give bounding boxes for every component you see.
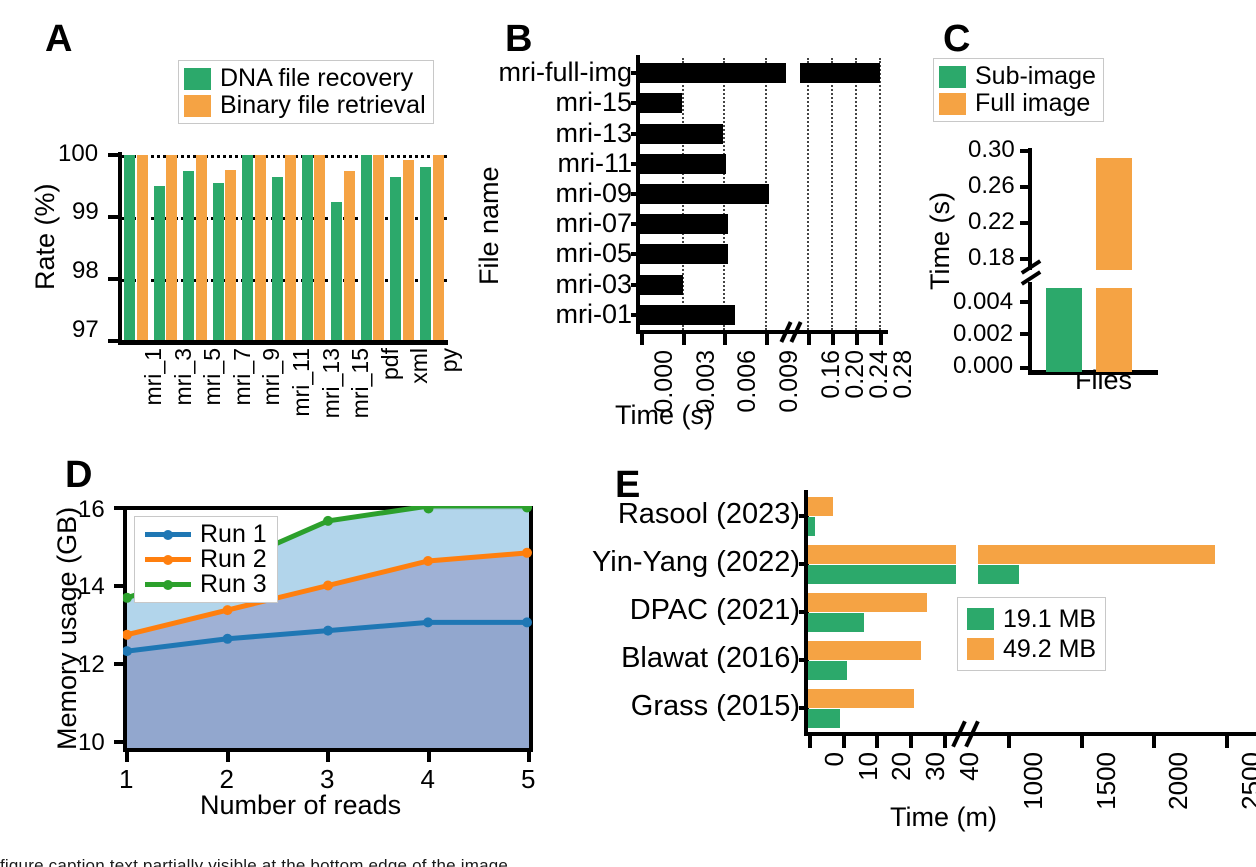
panel-c-ytickmark (1020, 149, 1029, 153)
figure-canvas: A DNA file recovery Binary file retrieva… (0, 0, 1256, 867)
panel-a-xtick: mri_3 (170, 348, 197, 406)
panel-e-bar (808, 661, 847, 680)
panel-d-xtickmark (427, 752, 431, 762)
panel-e-xtickmark (1080, 736, 1084, 748)
legend-swatch-orange (967, 638, 994, 660)
panel-c-ylabel: Time (s) (925, 192, 956, 290)
panel-c-bar-fullimage-upper (1096, 158, 1132, 270)
panel-c-ytickmark (1020, 221, 1029, 225)
panel-e-xtick: 20 (886, 752, 917, 781)
panel-b-xtickmark (640, 334, 644, 345)
legend-line-run2 (145, 557, 191, 562)
panel-e-legend: 19.1 MB 49.2 MB (957, 597, 1106, 671)
panel-c: C Sub-image Full image Time (s) Files 0.… (890, 0, 1256, 430)
panel-b-ytick: mri-15 (555, 87, 632, 118)
panel-b-bar (640, 275, 683, 295)
panel-a-xtick: pdf (377, 348, 404, 380)
panel-b-xtickmark (855, 334, 859, 345)
legend-swatch-green (967, 608, 994, 630)
panel-a-ytick: 99 (72, 198, 99, 226)
panel-c-ytick: 0.18 (968, 244, 1015, 272)
panel-a: A DNA file recovery Binary file retrieva… (0, 0, 460, 430)
panel-a-bar (285, 155, 296, 340)
panel-b-bar (640, 214, 728, 234)
panel-e-bar-right (978, 565, 1019, 584)
panel-e-xtick: 2000 (1163, 752, 1194, 810)
panel-e-xtickmark (909, 736, 913, 748)
panel-e-bar-left (808, 545, 956, 564)
panel-c-bar-subimage (1046, 288, 1082, 372)
panel-c-ytickmark (1020, 300, 1029, 304)
panel-a-ytick: 97 (72, 316, 99, 344)
legend-item: 19.1 MB (967, 604, 1096, 634)
figure-caption: figure caption text partially visible at… (0, 856, 1256, 867)
panel-e-xtick: 0 (819, 752, 850, 766)
panel-c-ytick: 0.004 (953, 288, 1013, 316)
panel-b-ytick: mri-03 (555, 269, 632, 300)
panel-a-bar (242, 155, 253, 340)
legend-label: 49.2 MB (1003, 635, 1096, 664)
panel-a-ytickmark (108, 277, 119, 281)
panel-a-xtick: mri_7 (229, 348, 256, 406)
panel-e-xtick: 10 (853, 752, 884, 781)
panel-b-gridline (807, 58, 809, 330)
legend-item: Run 1 (145, 522, 267, 547)
panel-b-bar (640, 244, 728, 264)
legend-item: 49.2 MB (967, 634, 1096, 664)
panel-a-xtick: mri_15 (347, 348, 374, 418)
panel-e-xtick: 1500 (1091, 752, 1122, 810)
panel-e-xtickmark (943, 736, 947, 748)
panel-a-xtick: mri_5 (199, 348, 226, 406)
panel-a-ytickmark (108, 339, 119, 343)
panel-e-xtick: 1000 (1018, 752, 1049, 810)
panel-e: E Time (m) Grass (2015)Blawat (2016)DPAC… (560, 440, 1256, 860)
panel-a-bar (331, 202, 342, 340)
panel-b-ytick: mri-full-img (499, 57, 632, 88)
panel-b-bar (640, 305, 735, 325)
panel-d-ytick: 14 (78, 573, 105, 601)
panel-d-xtickmark (226, 752, 230, 762)
panel-d-xtickmark (326, 752, 330, 762)
panel-e-bar (808, 497, 833, 516)
panel-e-bar (808, 641, 921, 660)
panel-e-bar (808, 517, 815, 536)
panel-e-xtickmark (1007, 736, 1011, 748)
panel-a-bar (361, 155, 372, 340)
panel-a-ytick: 98 (72, 257, 99, 285)
panel-a-ylabel: Rate (%) (30, 183, 61, 290)
panel-a-legend: DNA file recovery Binary file retrieval (178, 60, 434, 124)
panel-b-gridline (831, 58, 833, 330)
panel-e-bar-left (808, 565, 956, 584)
legend-label: Run 3 (200, 570, 267, 599)
legend-swatch-orange (184, 95, 211, 117)
panel-a-ytickmark (108, 153, 119, 157)
panel-c-ytick: 0.26 (968, 172, 1015, 200)
panel-c-ytick: 0.22 (968, 208, 1015, 236)
panel-c-yaxis-lower (1028, 282, 1032, 372)
panel-e-xtickmark (842, 736, 846, 748)
panel-b-label: B (505, 20, 532, 58)
panel-a-bar (302, 155, 313, 340)
panel-b-ylabel: File name (474, 166, 505, 285)
panel-b-xtickmark (765, 334, 769, 345)
panel-e-xtickmark (808, 736, 812, 748)
panel-d-ylabel: Memory usage (GB) (52, 507, 83, 750)
panel-e-bar (808, 689, 914, 708)
panel-c-ytick: 0.30 (968, 136, 1015, 164)
panel-a-xtick: mri_13 (318, 348, 345, 418)
panel-b-xtick: 0.003 (692, 350, 721, 413)
panel-d-xtick: 2 (220, 764, 234, 795)
panel-b-xtickmark (879, 334, 883, 345)
panel-d-legend: Run 1 Run 2 Run 3 (134, 516, 278, 603)
panel-b-xtick: 0.006 (733, 350, 762, 413)
panel-a-ytick: 100 (58, 140, 98, 168)
panel-e-xtickmark (1152, 736, 1156, 748)
panel-b-bar (640, 124, 723, 144)
legend-label: Binary file retrieval (220, 91, 426, 120)
panel-d-xtick: 3 (320, 764, 334, 795)
panel-e-xlabel: Time (m) (890, 802, 997, 833)
panel-d-xtick: 5 (521, 764, 535, 795)
panel-a-bar (390, 177, 401, 340)
panel-c-ytickmark (1020, 185, 1029, 189)
panel-b-ytick: mri-11 (557, 148, 632, 179)
panel-d-xtick: 1 (119, 764, 133, 795)
panel-b-xtick: 0.000 (650, 350, 679, 413)
panel-c-bar-fullimage-lower (1096, 288, 1132, 372)
panel-b-bar (640, 154, 726, 174)
legend-item: Full image (939, 90, 1096, 117)
panel-b-xtickmark (682, 334, 686, 345)
panel-d-xtick: 4 (421, 764, 435, 795)
panel-e-bar (808, 709, 840, 728)
panel-a-bar (344, 171, 355, 340)
legend-swatch-orange (939, 93, 966, 115)
legend-label: 19.1 MB (1003, 605, 1096, 634)
panel-e-bar (808, 613, 864, 632)
panel-b-ytick: mri-09 (555, 178, 632, 209)
panel-a-label: A (45, 20, 72, 58)
panel-a-bar (272, 177, 283, 340)
panel-e-xtick: 2500 (1236, 752, 1256, 810)
panel-a-bar (420, 167, 431, 340)
panel-d-xtickmark (125, 752, 129, 762)
legend-item: DNA file recovery (184, 65, 426, 92)
panel-a-bar (213, 183, 224, 340)
panel-a-bar (373, 155, 384, 340)
legend-label: Full image (975, 89, 1090, 118)
panel-b-bar-right (800, 63, 880, 83)
panel-b-bar-left (640, 63, 786, 83)
panel-e-xaxis (804, 732, 1256, 736)
panel-a-bar (137, 155, 148, 340)
panel-c-ytickmark (1020, 332, 1029, 336)
panel-a-bar (225, 170, 236, 340)
panel-a-xaxis (118, 340, 448, 345)
legend-item: Run 3 (145, 572, 267, 597)
panel-b-bar (640, 93, 682, 113)
panel-c-label: C (943, 20, 970, 58)
panel-d: D Memory usage (GB) Number of reads 16 1… (30, 440, 560, 860)
legend-item: Run 2 (145, 547, 267, 572)
legend-label: DNA file recovery (220, 64, 413, 93)
legend-item: Sub-image (939, 63, 1096, 90)
panel-b-ytick: mri-07 (555, 208, 632, 239)
panel-a-bar (124, 155, 135, 340)
panel-a-bar (196, 155, 207, 340)
panel-c-ytick: 0.002 (953, 320, 1013, 348)
panel-e-bar-right (978, 545, 1215, 564)
panel-e-bar (808, 593, 927, 612)
panel-a-bar (183, 171, 194, 340)
panel-e-xtickmark (875, 736, 879, 748)
panel-b-xtickmark (807, 334, 811, 345)
panel-b-xtickmark (723, 334, 727, 345)
panel-c-yaxis-upper (1028, 148, 1032, 270)
panel-a-bar (255, 155, 266, 340)
panel-a-xtick: mri_9 (258, 348, 285, 406)
legend-line-run3 (145, 582, 191, 587)
panel-c-ytickmark (1020, 257, 1029, 261)
panel-e-ytick: Grass (2015) (631, 690, 800, 723)
panel-d-ytick: 10 (78, 729, 105, 757)
panel-d-ytick: 16 (78, 496, 105, 524)
panel-a-yaxis (118, 152, 122, 344)
panel-b-bar (640, 184, 769, 204)
legend-swatch-green (939, 66, 966, 88)
panel-a-bar (154, 186, 165, 340)
panel-e-ytick: Yin-Yang (2022) (592, 546, 800, 579)
panel-a-bar (314, 155, 325, 340)
panel-b-xtickmark (831, 334, 835, 345)
panel-b-gridline (855, 58, 857, 330)
panel-b-ytick: mri-05 (555, 238, 632, 269)
caption-text: figure caption text partially visible at… (0, 856, 508, 867)
panel-a-bar (166, 155, 177, 340)
panel-a-xtick: mri_11 (288, 348, 315, 417)
panel-a-xtick: xml (406, 348, 433, 384)
panel-c-ytickmark (1020, 366, 1029, 370)
panel-b-ytick: mri-01 (555, 299, 632, 330)
panel-b-gridline (879, 58, 881, 330)
panel-d-label: D (65, 456, 92, 494)
panel-b-ytick: mri-13 (555, 118, 632, 149)
panel-d-xtickmark (527, 752, 531, 762)
panel-b-xaxis (636, 330, 888, 334)
panel-e-ytick: DPAC (2021) (630, 594, 800, 627)
legend-item: Binary file retrieval (184, 92, 426, 119)
panel-e-xtick: 40 (954, 752, 985, 781)
panel-a-xtick: mri_1 (140, 348, 167, 406)
panel-a-bar (403, 160, 414, 340)
legend-swatch-green (184, 68, 211, 90)
panel-d-ytick: 12 (78, 651, 105, 679)
panel-e-ytick: Rasool (2023) (618, 498, 800, 531)
panel-c-legend: Sub-image Full image (933, 58, 1104, 122)
panel-e-ytick: Blawat (2016) (621, 642, 800, 675)
panel-b-xtick: 0.009 (775, 350, 804, 413)
panel-c-ytick: 0.000 (953, 352, 1013, 380)
panel-e-xtick: 30 (920, 752, 951, 781)
panel-e-xtickmark (1225, 736, 1229, 748)
panel-b: B File name Time (s) mri-01mri-03mri-05m… (440, 0, 890, 440)
legend-label: Sub-image (975, 62, 1096, 91)
panel-a-ytickmark (108, 215, 119, 219)
legend-line-run1 (145, 532, 191, 537)
